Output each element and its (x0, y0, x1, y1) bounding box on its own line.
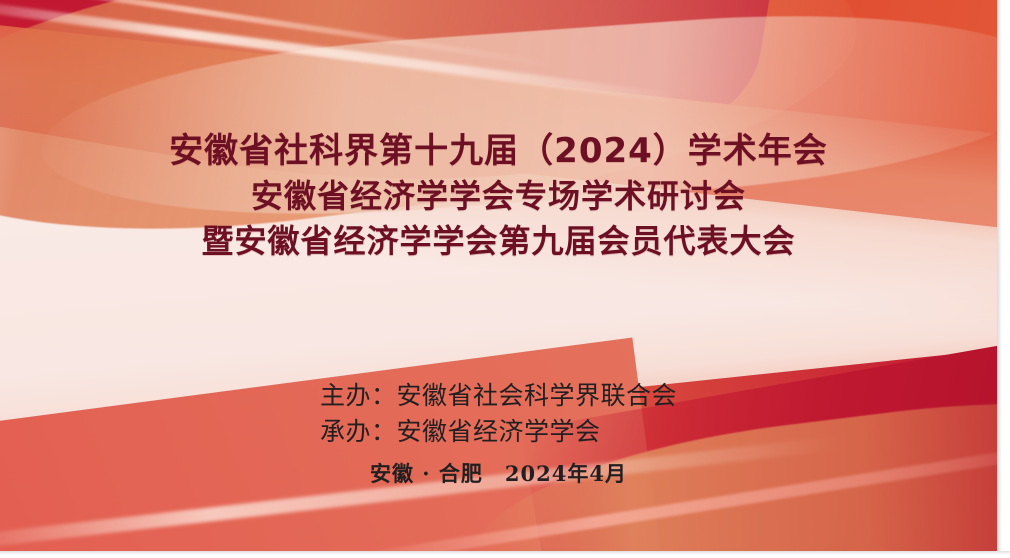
organizer-line: 承办：安徽省经济学学会 (320, 414, 677, 450)
slide-title-line-3: 暨安徽省经济学学会第九届会员代表大会 (0, 219, 997, 264)
host-line: 主办：安徽省社会科学界联合会 (320, 378, 677, 414)
slide-edge-bottom (0, 551, 1010, 558)
slide-content: 安徽省社科界第十九届（2024）学术年会 安徽省经济学学会专场学术研讨会 暨安徽… (0, 0, 997, 551)
credits-inner: 主办：安徽省社会科学界联合会 承办：安徽省经济学学会 (320, 378, 677, 450)
presentation-slide: 安徽省社科界第十九届（2024）学术年会 安徽省经济学学会专场学术研讨会 暨安徽… (0, 0, 1010, 558)
credits-block: 主办：安徽省社会科学界联合会 承办：安徽省经济学学会 (0, 378, 997, 450)
location-date-line: 安徽 · 合肥 2024年4月 (0, 460, 997, 488)
slide-edge-right (997, 0, 1010, 558)
slide-title-line-2: 安徽省经济学学会专场学术研讨会 (0, 174, 997, 219)
slide-canvas: 安徽省社科界第十九届（2024）学术年会 安徽省经济学学会专场学术研讨会 暨安徽… (0, 0, 997, 551)
slide-title-line-1: 安徽省社科界第十九届（2024）学术年会 (0, 128, 997, 174)
slide-title-block: 安徽省社科界第十九届（2024）学术年会 安徽省经济学学会专场学术研讨会 暨安徽… (0, 128, 997, 264)
